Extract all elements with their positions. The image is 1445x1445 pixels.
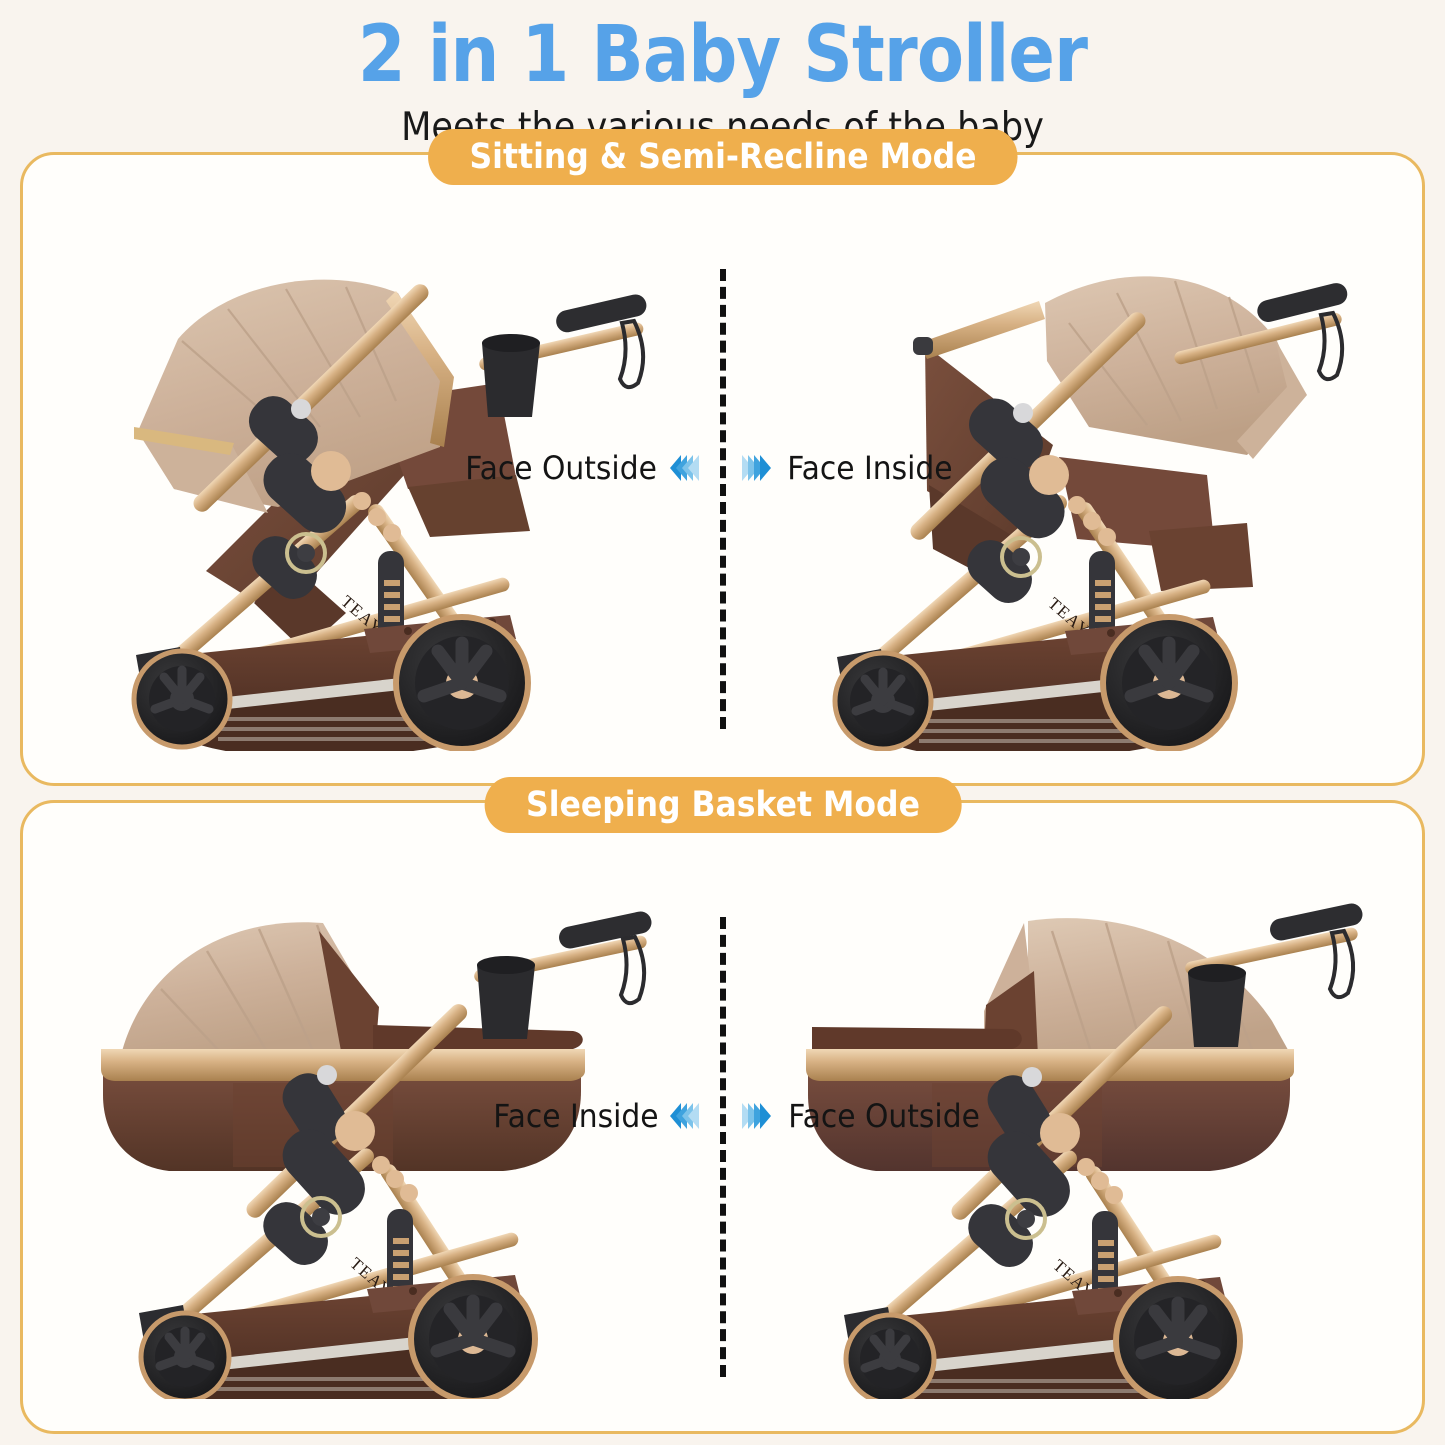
panel-sitting-mode: Sitting & Semi-Recline Mode bbox=[20, 152, 1425, 786]
stroller-image-sitting-face-inside: TEAYINGDE bbox=[723, 211, 1423, 771]
face-label-inside: Face Inside bbox=[487, 1097, 699, 1135]
panel-2-split: TEAYINGDE bbox=[23, 859, 1422, 1419]
page-title: 2 in 1 Baby Stroller bbox=[87, 0, 1359, 94]
chevron-left-icon bbox=[688, 1103, 699, 1129]
chevron-right-group bbox=[747, 1103, 771, 1129]
panel-1-right-cell: TEAYINGDE bbox=[723, 211, 1423, 771]
face-label-outside: Face Outside bbox=[747, 1097, 987, 1135]
chevron-left-group bbox=[675, 1103, 699, 1129]
chevron-left-group bbox=[675, 455, 699, 481]
face-label-text: Face Inside bbox=[787, 449, 952, 487]
badge-sleeping-basket-mode: Sleeping Basket Mode bbox=[484, 777, 961, 833]
stroller-image-bassinet-face-outside: TEAYINGDE bbox=[723, 859, 1423, 1419]
panel-2-right-cell: TEAYINGDE bbox=[723, 859, 1423, 1419]
stroller-image-bassinet-face-inside: TEAYINGDE bbox=[23, 859, 723, 1419]
chevron-right-icon bbox=[760, 1103, 771, 1129]
badge-sitting-mode: Sitting & Semi-Recline Mode bbox=[428, 129, 1018, 185]
infographic-page: 2 in 1 Baby Stroller Meets the various n… bbox=[0, 0, 1445, 1445]
face-label-text: Face Inside bbox=[493, 1097, 658, 1135]
panel-1-left-cell: TEAYINGDE bbox=[23, 211, 723, 771]
chevron-left-icon bbox=[688, 455, 699, 481]
chevron-right-icon bbox=[760, 455, 771, 481]
panel-sleeping-basket-mode: Sleeping Basket Mode bbox=[20, 800, 1425, 1434]
page-header: 2 in 1 Baby Stroller Meets the various n… bbox=[0, 0, 1445, 150]
face-label-text: Face Outside bbox=[466, 449, 658, 487]
face-label-inside: Face Inside bbox=[747, 449, 959, 487]
panel-1-split: TEAYINGDE bbox=[23, 211, 1422, 771]
face-label-text: Face Outside bbox=[788, 1097, 980, 1135]
chevron-right-group bbox=[747, 455, 771, 481]
stroller-image-sitting-face-outside: TEAYINGDE bbox=[23, 211, 723, 771]
face-label-outside: Face Outside bbox=[458, 449, 698, 487]
panel-2-left-cell: TEAYINGDE bbox=[23, 859, 723, 1419]
